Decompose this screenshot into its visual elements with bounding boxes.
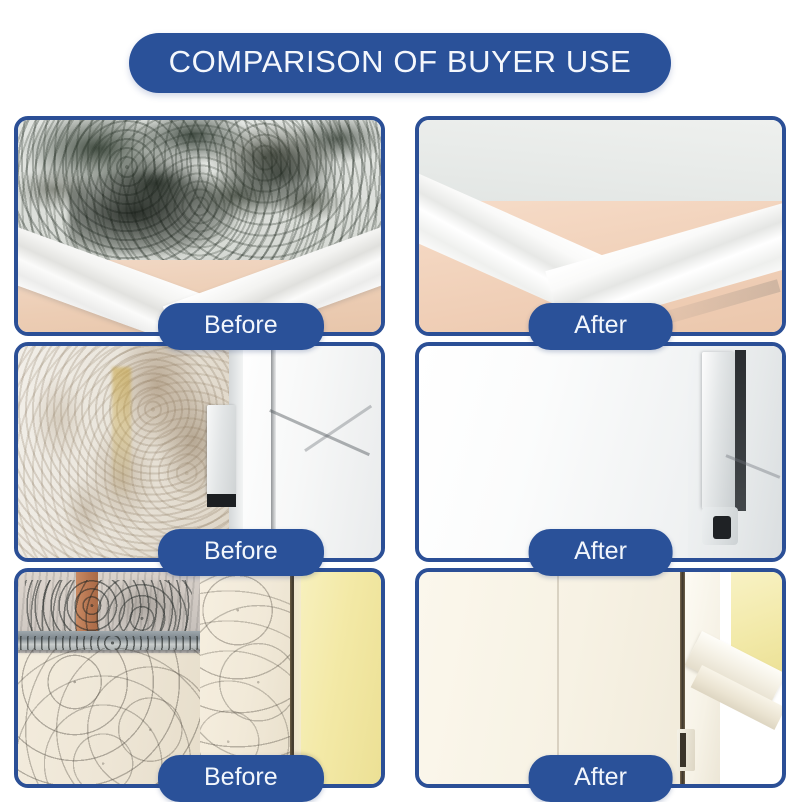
hinge-knuckle-hole xyxy=(713,516,731,539)
door-edge-shadow xyxy=(271,346,276,558)
badge-before-row3: Before xyxy=(158,755,324,802)
clean-white-wall xyxy=(419,346,695,558)
comparison-card-row2-after[interactable]: After xyxy=(415,342,786,562)
comparison-card-row3-before[interactable]: Before xyxy=(14,568,385,788)
comparison-card-row1-before[interactable]: Before xyxy=(14,116,385,336)
clean-cream-wall xyxy=(419,572,684,784)
photo-row2-after xyxy=(419,346,782,558)
page-title-container: COMPARISON OF BUYER USE xyxy=(0,33,800,93)
yellow-mold-streak xyxy=(112,367,130,498)
comparison-card-row3-after[interactable]: After xyxy=(415,568,786,788)
comparison-card-row2-before[interactable]: Before xyxy=(14,342,385,562)
badge-before-row1: Before xyxy=(158,303,324,350)
badge-after-row2: After xyxy=(528,529,673,576)
photo-row2-before xyxy=(18,346,381,558)
wall-seam xyxy=(557,572,559,784)
badge-after-row1: After xyxy=(528,303,673,350)
door-hinge xyxy=(207,405,236,498)
comparison-card-row1-after[interactable]: After xyxy=(415,116,786,336)
mold-patch-secondary xyxy=(218,137,341,213)
photo-row1-after xyxy=(419,120,782,332)
frame-hardware-gap xyxy=(680,733,686,767)
badge-after-row3: After xyxy=(528,755,673,802)
photo-row1-before xyxy=(18,120,381,332)
hinge-gap xyxy=(207,494,236,507)
badge-before-row2: Before xyxy=(158,529,324,576)
photo-row3-before xyxy=(18,572,381,784)
page-title: COMPARISON OF BUYER USE xyxy=(129,33,672,93)
mold-patch-large xyxy=(69,171,236,256)
hinge-gap xyxy=(735,350,746,511)
photo-row3-after xyxy=(419,572,782,784)
comparison-grid: Before After Before xyxy=(14,116,786,788)
door-hinge xyxy=(702,352,735,509)
